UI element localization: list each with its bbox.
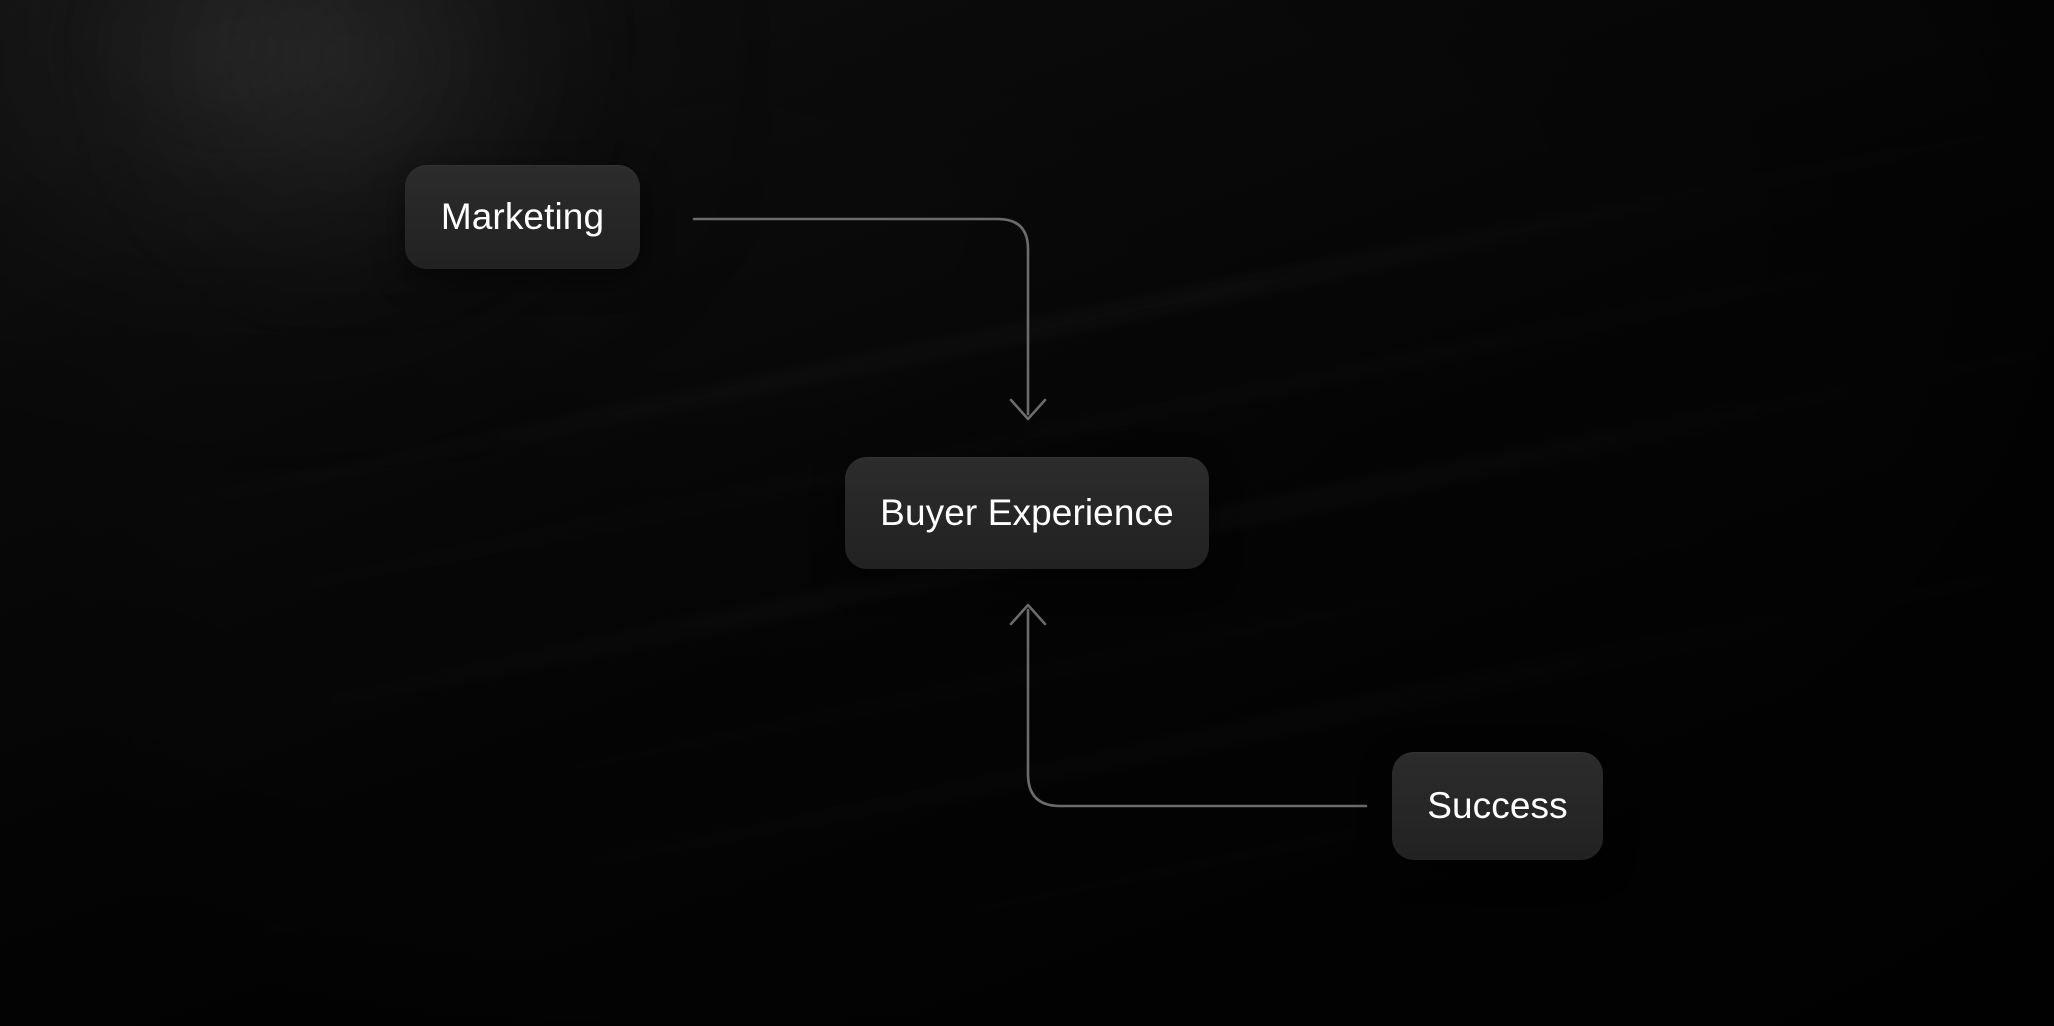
node-marketing-label: Marketing <box>441 198 604 235</box>
diagram-canvas: Marketing Buyer Experience Success <box>0 0 2054 1026</box>
node-success-label: Success <box>1427 787 1568 824</box>
node-buyer-experience[interactable]: Buyer Experience <box>845 457 1209 569</box>
node-marketing[interactable]: Marketing <box>405 165 640 269</box>
node-buyer-experience-label: Buyer Experience <box>880 494 1174 531</box>
node-success[interactable]: Success <box>1392 752 1603 860</box>
